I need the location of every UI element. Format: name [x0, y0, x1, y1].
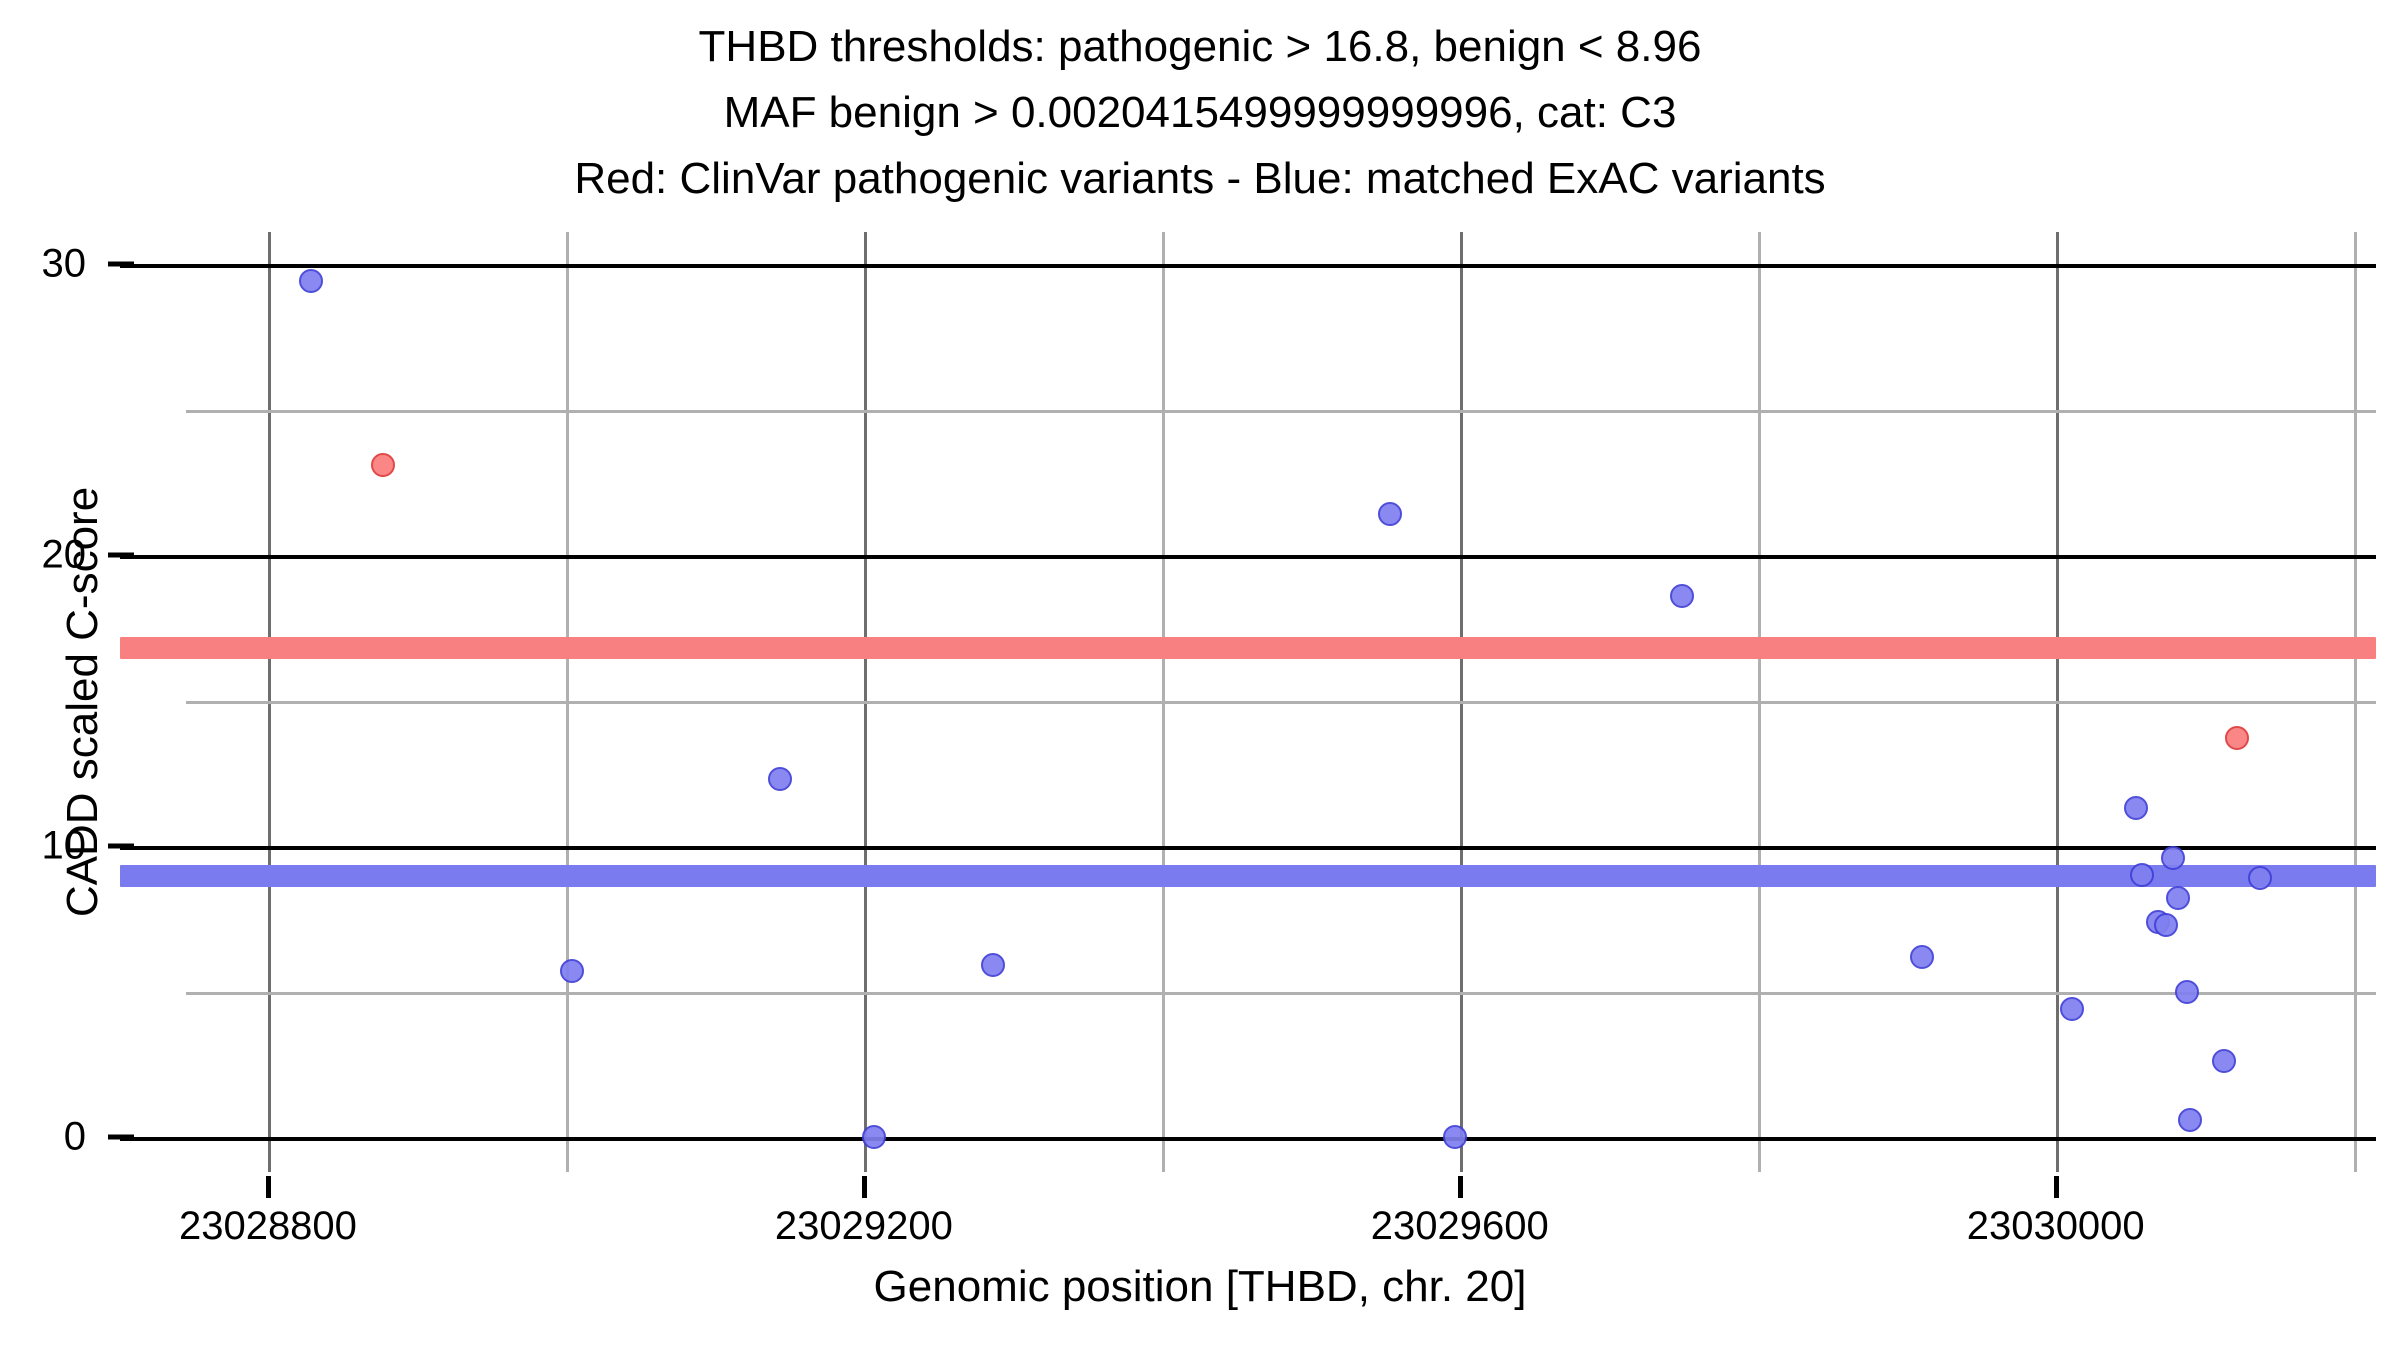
data-point[interactable] — [299, 269, 323, 293]
x-tick-mark — [862, 1176, 867, 1198]
y-tick-label: 0 — [64, 1115, 86, 1160]
data-point[interactable] — [2124, 796, 2148, 820]
data-point[interactable] — [1670, 584, 1694, 608]
horizontal-axis-rule — [120, 264, 2376, 268]
plot-area: 010203023028800230292002302960023030000 — [186, 232, 2376, 1172]
y-axis-title: CADD scaled C-score — [58, 487, 108, 917]
horizontal-gridline-minor — [186, 410, 2376, 413]
data-point[interactable] — [2225, 726, 2249, 750]
data-point[interactable] — [560, 959, 584, 983]
data-point[interactable] — [2166, 886, 2190, 910]
threshold-line-pathogenic — [120, 637, 2376, 659]
x-tick-label: 23030000 — [1967, 1204, 2145, 1249]
data-point[interactable] — [2060, 997, 2084, 1021]
data-point[interactable] — [2248, 866, 2272, 890]
data-point[interactable] — [2212, 1049, 2236, 1073]
y-tick-mark — [108, 262, 134, 267]
x-tick-mark — [2054, 1176, 2059, 1198]
title-line-thresholds: THBD thresholds: pathogenic > 16.8, beni… — [0, 14, 2400, 80]
data-point[interactable] — [2161, 846, 2185, 870]
title-line-legend: Red: ClinVar pathogenic variants - Blue:… — [0, 146, 2400, 212]
chart-page: THBD thresholds: pathogenic > 16.8, beni… — [0, 0, 2400, 1350]
data-point[interactable] — [2178, 1108, 2202, 1132]
horizontal-gridline-minor — [186, 701, 2376, 704]
y-tick-mark — [108, 553, 134, 558]
y-tick-label: 30 — [42, 242, 87, 287]
x-tick-label: 23028800 — [179, 1204, 357, 1249]
x-tick-label: 23029600 — [1371, 1204, 1549, 1249]
data-point[interactable] — [1443, 1125, 1467, 1149]
x-axis-title: Genomic position [THBD, chr. 20] — [0, 1262, 2400, 1312]
data-point[interactable] — [768, 767, 792, 791]
data-point[interactable] — [371, 453, 395, 477]
x-tick-mark — [1458, 1176, 1463, 1198]
y-tick-mark — [108, 1135, 134, 1140]
horizontal-gridline-minor — [186, 992, 2376, 995]
data-point[interactable] — [2175, 980, 2199, 1004]
chart-title-block: THBD thresholds: pathogenic > 16.8, beni… — [0, 14, 2400, 212]
data-point[interactable] — [1378, 502, 1402, 526]
x-tick-label: 23029200 — [775, 1204, 953, 1249]
data-point[interactable] — [981, 953, 1005, 977]
y-tick-mark — [108, 844, 134, 849]
data-point[interactable] — [1910, 945, 1934, 969]
horizontal-axis-rule — [120, 555, 2376, 559]
x-tick-mark — [266, 1176, 271, 1198]
threshold-line-benign — [120, 865, 2376, 887]
title-line-maf: MAF benign > 0.0020415499999999996, cat:… — [0, 80, 2400, 146]
horizontal-axis-rule — [120, 846, 2376, 850]
data-point[interactable] — [2154, 913, 2178, 937]
horizontal-axis-rule — [120, 1137, 2376, 1141]
data-point[interactable] — [862, 1125, 886, 1149]
